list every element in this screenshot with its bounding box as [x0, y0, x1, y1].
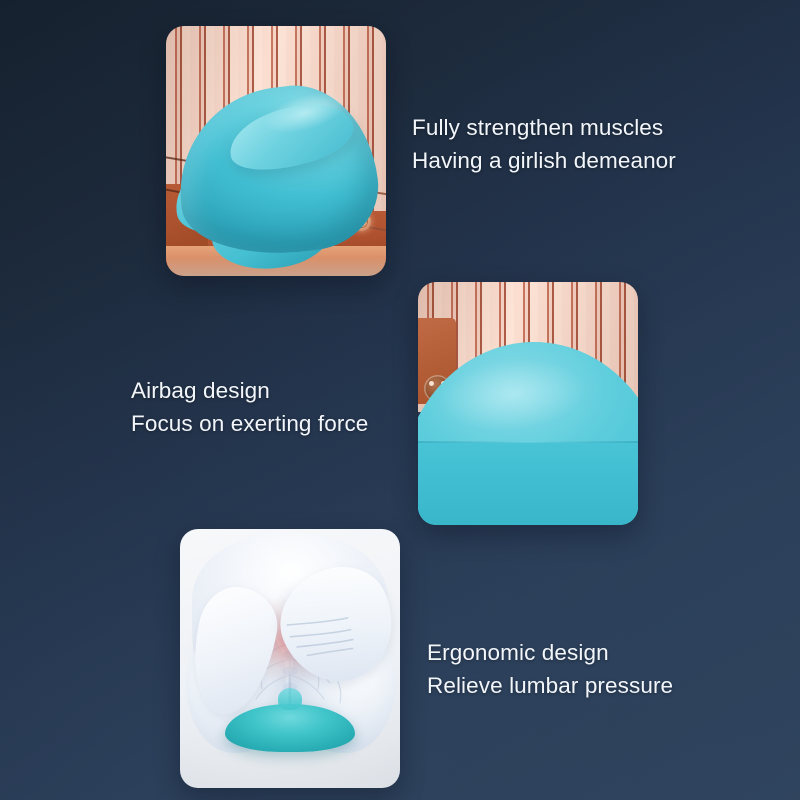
- feature-3-caption: Ergonomic design Relieve lumbar pressure: [427, 636, 673, 702]
- feature-1-caption: Fully strengthen muscles Having a girlis…: [412, 111, 676, 177]
- feature-2-caption-line-1: Airbag design: [131, 374, 368, 407]
- feature-image-card-1[interactable]: [166, 26, 386, 276]
- feature-3-caption-line-1: Ergonomic design: [427, 636, 673, 669]
- product-feature-collage: Fully strengthen muscles Having a girlis…: [0, 0, 800, 800]
- feature-1-caption-line-1: Fully strengthen muscles: [412, 111, 676, 144]
- airbag-seam-line: [418, 441, 638, 443]
- teal-massage-cushion: [166, 26, 386, 276]
- feature-1-scene: [166, 26, 386, 276]
- feature-1-caption-line-2: Having a girlish demeanor: [412, 144, 676, 177]
- feature-3-scene: [180, 529, 400, 788]
- feature-image-card-2[interactable]: [418, 282, 638, 525]
- feature-3-caption-line-2: Relieve lumbar pressure: [427, 669, 673, 702]
- feature-2-scene: [418, 282, 638, 525]
- feature-2-caption: Airbag design Focus on exerting force: [131, 374, 368, 440]
- feature-image-card-3[interactable]: [180, 529, 400, 788]
- airbag-front-face: [418, 442, 638, 525]
- feature-2-caption-line-2: Focus on exerting force: [131, 407, 368, 440]
- scene-vignette: [180, 529, 400, 788]
